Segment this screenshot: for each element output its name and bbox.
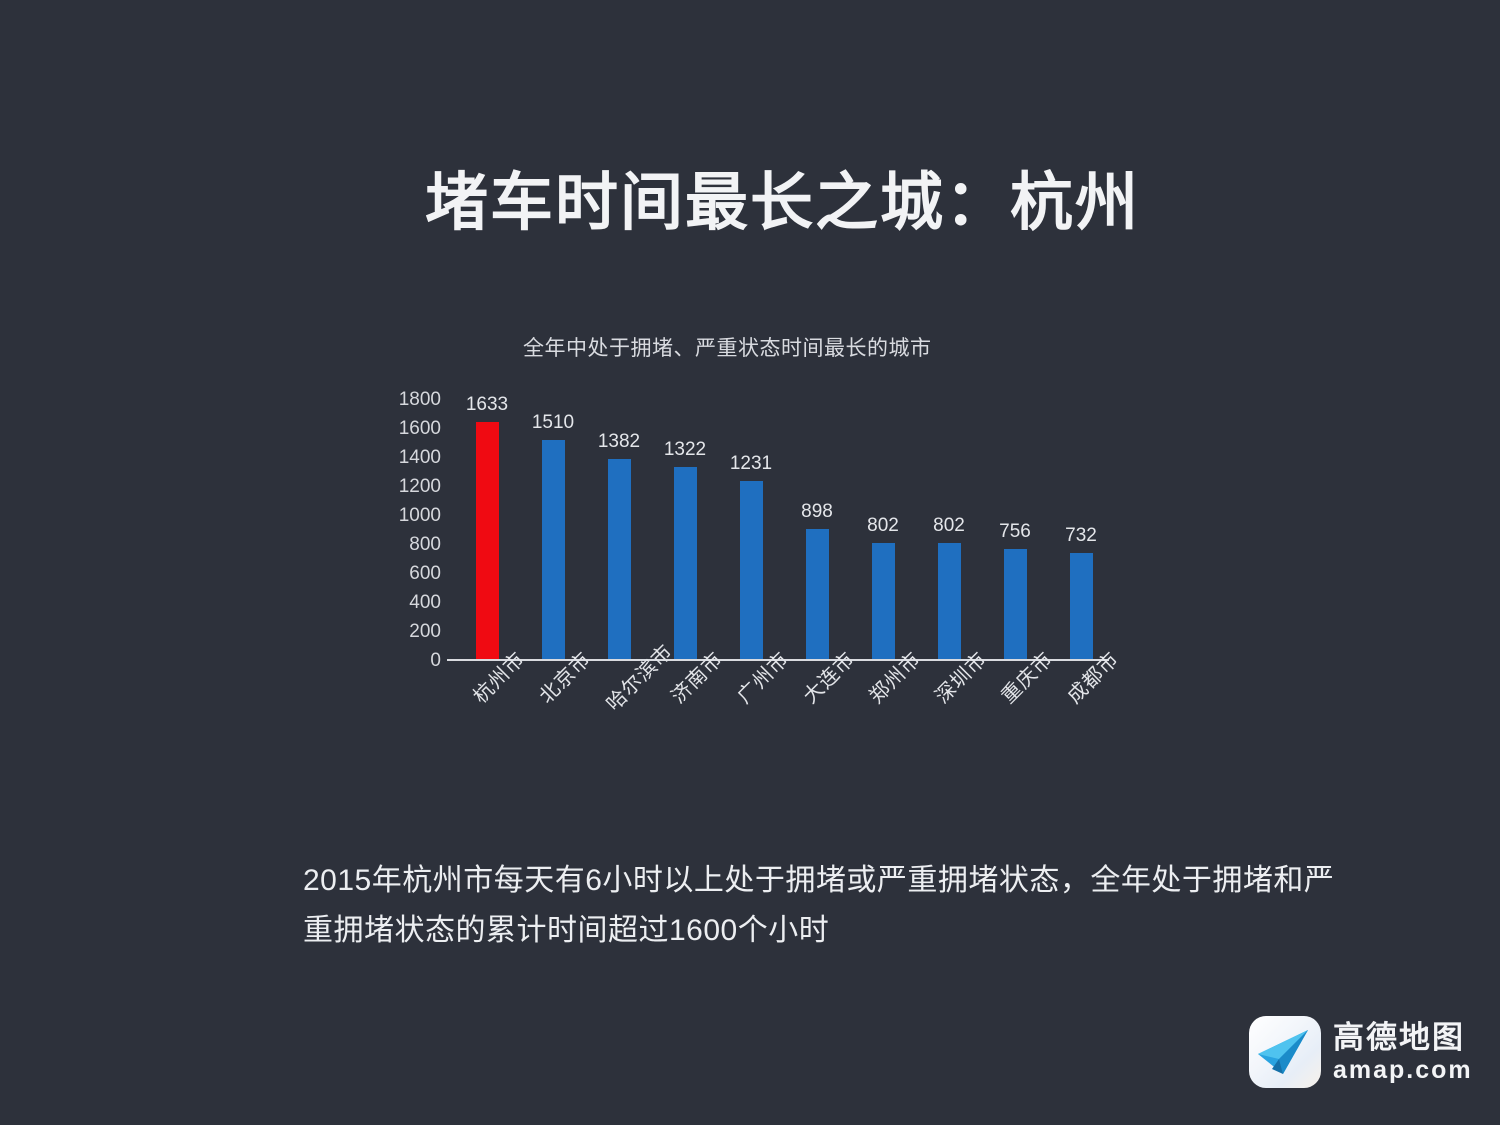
bar[interactable]	[674, 467, 697, 659]
bar[interactable]	[806, 529, 829, 659]
x-axis-tick: 大连市	[784, 666, 850, 695]
logo-name-cn: 高德地图	[1333, 1022, 1473, 1053]
x-axis-tick: 广州市	[718, 666, 784, 695]
bar[interactable]	[608, 459, 631, 659]
bar[interactable]	[1004, 549, 1027, 659]
y-axis-tick: 1400	[399, 448, 441, 467]
x-axis-tick: 北京市	[520, 666, 586, 695]
x-axis-tick: 郑州市	[850, 666, 916, 695]
plot-area: 16331510138213221231898802802756732	[447, 396, 1109, 661]
bar[interactable]	[1070, 553, 1093, 659]
x-axis-tick: 成都市	[1048, 666, 1114, 695]
bar-value-label: 732	[1048, 525, 1114, 547]
bar-value-label: 1510	[520, 412, 586, 434]
bar-value-label: 802	[850, 515, 916, 537]
logo-text: 高德地图 amap.com	[1333, 1022, 1473, 1083]
x-axis-tick: 重庆市	[982, 666, 1048, 695]
x-axis: 杭州市北京市哈尔滨市济南市广州市大连市郑州市深圳市重庆市成都市	[447, 666, 1109, 796]
y-axis-tick: 1600	[399, 419, 441, 438]
bar[interactable]	[542, 440, 565, 659]
bar-value-label: 1633	[454, 394, 520, 416]
amap-logo: 高德地图 amap.com	[1249, 1016, 1473, 1088]
bar-value-label: 756	[982, 521, 1048, 543]
x-axis-tick: 深圳市	[916, 666, 982, 695]
bar[interactable]	[476, 422, 499, 659]
y-axis-tick: 1000	[399, 506, 441, 525]
x-axis-tick: 济南市	[652, 666, 718, 695]
chart-title: 全年中处于拥堵、严重状态时间最长的城市	[523, 332, 932, 362]
x-axis-tick: 杭州市	[454, 666, 520, 695]
bar-value-label: 1382	[586, 431, 652, 453]
logo-name-en: amap.com	[1333, 1058, 1473, 1083]
bar-value-label: 1231	[718, 453, 784, 475]
y-axis-tick: 0	[430, 651, 441, 670]
y-axis-tick: 600	[409, 564, 441, 583]
bar[interactable]	[872, 543, 895, 659]
bar[interactable]	[938, 543, 961, 659]
y-axis-tick: 1200	[399, 477, 441, 496]
y-axis-tick: 800	[409, 535, 441, 554]
bar[interactable]	[740, 481, 763, 659]
bar-chart: 全年中处于拥堵、严重状态时间最长的城市 18001600140012001000…	[0, 0, 1500, 800]
y-axis-tick: 400	[409, 593, 441, 612]
x-axis-tick: 哈尔滨市	[586, 666, 652, 695]
caption-text: 2015年杭州市每天有6小时以上处于拥堵或严重拥堵状态，全年处于拥堵和严重拥堵状…	[303, 856, 1343, 955]
paper-plane-icon	[1249, 1016, 1321, 1088]
bar-value-label: 802	[916, 515, 982, 537]
y-axis-tick: 200	[409, 622, 441, 641]
y-axis-tick: 1800	[399, 390, 441, 409]
bar-value-label: 1322	[652, 439, 718, 461]
bar-value-label: 898	[784, 501, 850, 523]
